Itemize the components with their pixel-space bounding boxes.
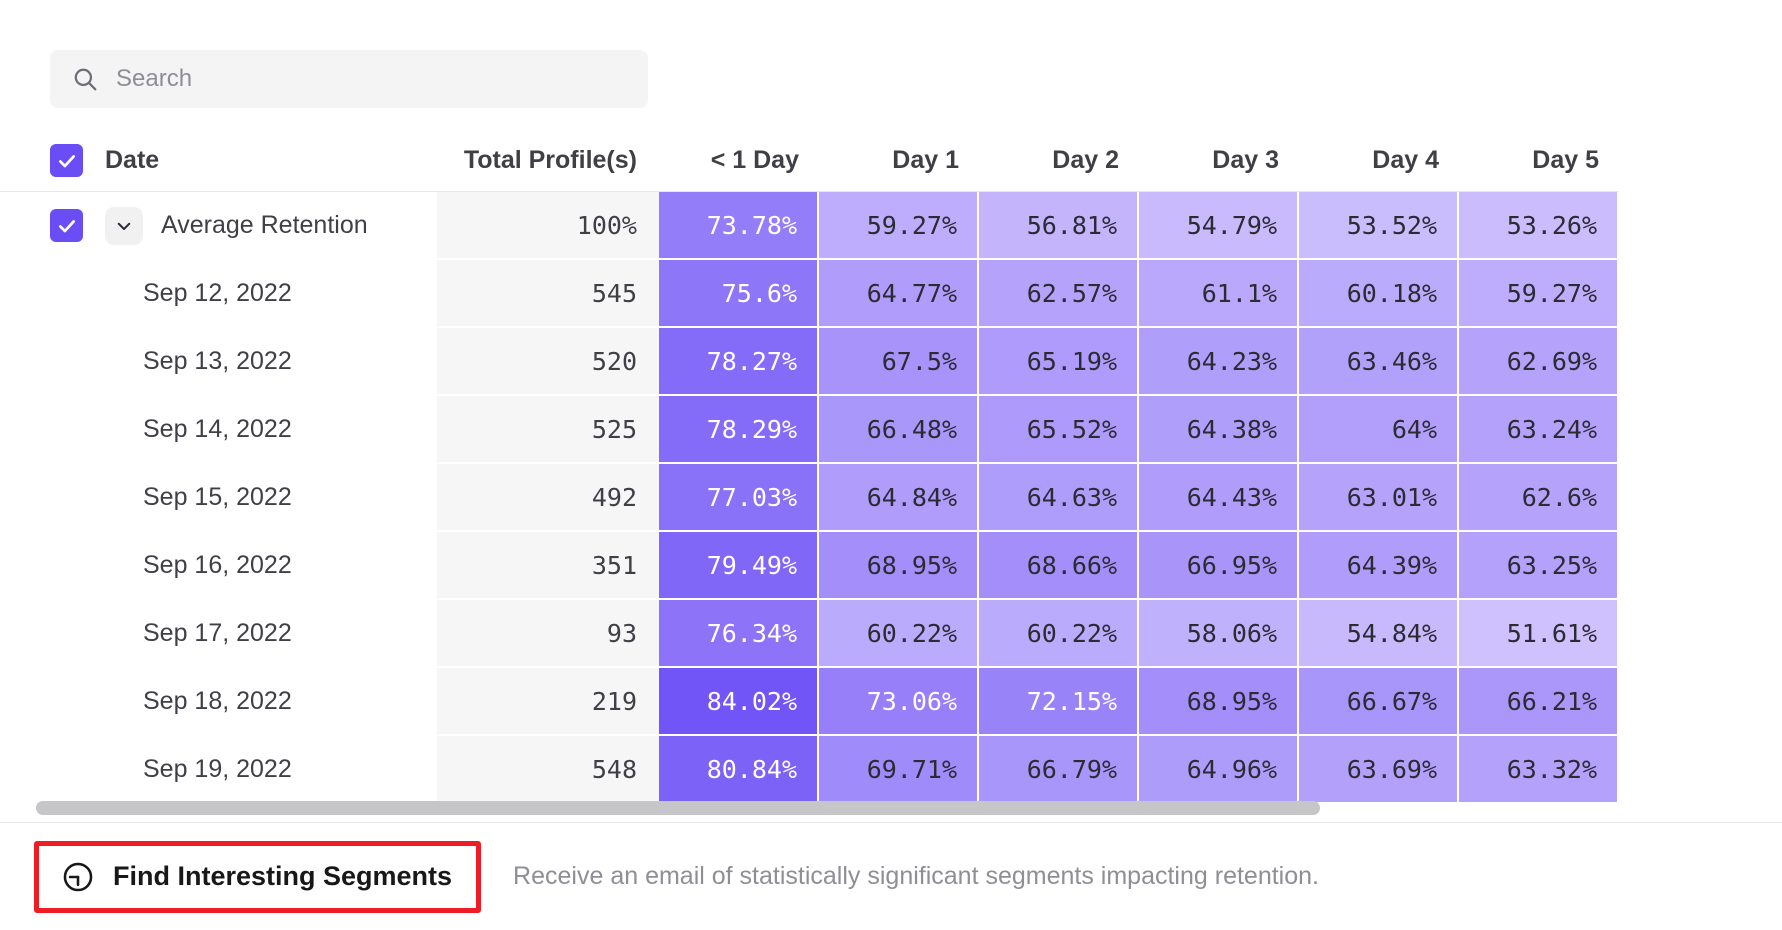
retention-value: 68.95% [867,551,957,580]
retention-value: 67.5% [882,347,957,376]
header-label-day: Day 3 [1212,146,1279,175]
retention-value: 84.02% [707,687,797,716]
table-row[interactable]: Sep 12, 202254575.6%64.77%62.57%61.1%60.… [0,260,1782,328]
row-label: Sep 18, 2022 [50,687,292,716]
retention-value: 78.29% [707,415,797,444]
retention-cell: 78.29% [659,396,819,464]
header-cell-day-5: Day 5 [1459,130,1619,192]
retention-cell: 59.27% [1459,260,1619,328]
row-label: Average Retention [161,211,368,240]
retention-cell: 84.02% [659,668,819,736]
retention-cell: 66.48% [819,396,979,464]
retention-value: 63.01% [1347,483,1437,512]
header-cell-day-1: Day 1 [819,130,979,192]
row-total-profiles: 520 [437,328,659,396]
row-total-value: 93 [607,619,637,648]
retention-value: 66.79% [1027,755,1117,784]
retention-cell: 64.63% [979,464,1139,532]
retention-cell: 60.22% [819,600,979,668]
row-total-profiles: 100% [437,192,659,260]
retention-value: 58.06% [1187,619,1277,648]
row-date-cell: Sep 16, 2022 [0,532,437,600]
retention-value: 77.03% [707,483,797,512]
header-cell-date: Date [0,130,437,192]
retention-cell: 62.69% [1459,328,1619,396]
retention-value: 73.06% [867,687,957,716]
header-cell-day-0: < 1 Day [659,130,819,192]
retention-value: 51.61% [1507,619,1597,648]
header-label-day: Day 1 [892,146,959,175]
retention-cell: 61.1% [1139,260,1299,328]
row-label: Sep 13, 2022 [50,347,292,376]
retention-cell: 68.95% [819,532,979,600]
retention-value: 63.24% [1507,415,1597,444]
retention-value: 53.52% [1347,211,1437,240]
retention-cell: 54.79% [1139,192,1299,260]
retention-cell: 59.27% [819,192,979,260]
row-total-profiles: 525 [437,396,659,464]
row-date-cell: Sep 13, 2022 [0,328,437,396]
row-total-profiles: 548 [437,736,659,804]
row-label: Sep 12, 2022 [50,279,292,308]
table-row[interactable]: Sep 14, 202252578.29%66.48%65.52%64.38%6… [0,396,1782,464]
row-date-cell: Sep 15, 2022 [0,464,437,532]
row-total-value: 525 [592,415,637,444]
row-label: Sep 16, 2022 [50,551,292,580]
retention-cell: 68.95% [1139,668,1299,736]
retention-cell: 60.18% [1299,260,1459,328]
header-cell-day-4: Day 4 [1299,130,1459,192]
row-total-value: 520 [592,347,637,376]
retention-cell: 62.57% [979,260,1139,328]
retention-cell: 77.03% [659,464,819,532]
retention-value: 64.43% [1187,483,1277,512]
retention-value: 78.27% [707,347,797,376]
retention-cell: 54.84% [1299,600,1459,668]
retention-cell: 64.77% [819,260,979,328]
row-checkbox[interactable] [50,209,83,242]
retention-value: 64.96% [1187,755,1277,784]
retention-cell: 53.52% [1299,192,1459,260]
row-label: Sep 17, 2022 [50,619,292,648]
retention-value: 59.27% [1507,279,1597,308]
search-box[interactable] [50,50,648,108]
retention-value: 62.6% [1522,483,1597,512]
retention-cell: 64.38% [1139,396,1299,464]
retention-value: 64.23% [1187,347,1277,376]
row-date-cell: Sep 12, 2022 [0,260,437,328]
retention-cell: 64% [1299,396,1459,464]
find-interesting-segments-button[interactable]: Find Interesting Segments [34,841,481,913]
header-cell-day-2: Day 2 [979,130,1139,192]
retention-cell: 78.27% [659,328,819,396]
footer-bar: Find Interesting Segments Receive an ema… [0,822,1782,930]
row-date-cell: Sep 18, 2022 [0,668,437,736]
retention-value: 53.26% [1507,211,1597,240]
header-cell-total-profiles: Total Profile(s) [437,130,659,192]
retention-cell: 68.66% [979,532,1139,600]
target-icon [61,860,95,894]
table-body: Average Retention100%73.78%59.27%56.81%5… [0,192,1782,804]
retention-value: 79.49% [707,551,797,580]
retention-value: 66.21% [1507,687,1597,716]
retention-cell: 63.01% [1299,464,1459,532]
row-total-value: 492 [592,483,637,512]
table-row[interactable]: Sep 18, 202221984.02%73.06%72.15%68.95%6… [0,668,1782,736]
row-label: Sep 19, 2022 [50,755,292,784]
retention-cell: 66.67% [1299,668,1459,736]
retention-value: 60.18% [1347,279,1437,308]
table-row[interactable]: Sep 16, 202235179.49%68.95%68.66%66.95%6… [0,532,1782,600]
retention-value: 65.19% [1027,347,1117,376]
retention-value: 66.95% [1187,551,1277,580]
retention-cell: 64.43% [1139,464,1299,532]
retention-cell: 80.84% [659,736,819,804]
retention-cell: 63.69% [1299,736,1459,804]
retention-value: 76.34% [707,619,797,648]
retention-value: 66.48% [867,415,957,444]
table-row[interactable]: Sep 15, 202249277.03%64.84%64.63%64.43%6… [0,464,1782,532]
retention-value: 75.6% [722,279,797,308]
retention-cell: 64.39% [1299,532,1459,600]
select-all-checkbox[interactable] [50,144,83,177]
retention-cell: 63.24% [1459,396,1619,464]
retention-value: 60.22% [867,619,957,648]
search-icon [72,66,98,92]
retention-value: 62.57% [1027,279,1117,308]
header-label-day: Day 4 [1372,146,1439,175]
retention-cell: 73.06% [819,668,979,736]
retention-cell: 75.6% [659,260,819,328]
header-label-date: Date [105,146,159,175]
row-total-profiles: 93 [437,600,659,668]
retention-cell: 63.32% [1459,736,1619,804]
retention-cell: 64.23% [1139,328,1299,396]
retention-cell: 66.95% [1139,532,1299,600]
retention-cell: 64.96% [1139,736,1299,804]
retention-cell: 65.52% [979,396,1139,464]
horizontal-scrollbar-thumb[interactable] [36,801,1320,815]
retention-cell: 79.49% [659,532,819,600]
table-header-row: DateTotal Profile(s)< 1 DayDay 1Day 2Day… [0,130,1782,192]
horizontal-scrollbar[interactable] [0,801,1782,817]
retention-value: 69.71% [867,755,957,784]
table-row[interactable]: Sep 17, 20229376.34%60.22%60.22%58.06%54… [0,600,1782,668]
table-row[interactable]: Average Retention100%73.78%59.27%56.81%5… [0,192,1782,260]
retention-cell: 60.22% [979,600,1139,668]
row-date-cell: Sep 17, 2022 [0,600,437,668]
retention-value: 60.22% [1027,619,1117,648]
retention-cell: 51.61% [1459,600,1619,668]
retention-cell: 66.21% [1459,668,1619,736]
row-total-profiles: 351 [437,532,659,600]
retention-value: 68.95% [1187,687,1277,716]
row-date-cell: Sep 14, 2022 [0,396,437,464]
retention-value: 54.84% [1347,619,1437,648]
row-label: Sep 15, 2022 [50,483,292,512]
retention-table: DateTotal Profile(s)< 1 DayDay 1Day 2Day… [0,130,1782,804]
retention-value: 73.78% [707,211,797,240]
header-cell-day-3: Day 3 [1139,130,1299,192]
retention-value: 56.81% [1027,211,1117,240]
row-total-value: 100% [577,211,637,240]
retention-value: 72.15% [1027,687,1117,716]
header-label-total-profiles: Total Profile(s) [464,146,637,175]
row-total-profiles: 545 [437,260,659,328]
retention-cell: 63.46% [1299,328,1459,396]
retention-value: 64.63% [1027,483,1117,512]
retention-value: 80.84% [707,755,797,784]
row-total-value: 351 [592,551,637,580]
footer-description: Receive an email of statistically signif… [513,862,1319,891]
retention-table-page: DateTotal Profile(s)< 1 DayDay 1Day 2Day… [0,0,1782,930]
retention-cell: 63.25% [1459,532,1619,600]
retention-value: 64.84% [867,483,957,512]
retention-cell: 73.78% [659,192,819,260]
retention-value: 62.69% [1507,347,1597,376]
retention-cell: 58.06% [1139,600,1299,668]
retention-cell: 67.5% [819,328,979,396]
retention-cell: 76.34% [659,600,819,668]
chevron-down-icon[interactable] [105,207,143,245]
row-date-cell: Sep 19, 2022 [0,736,437,804]
retention-cell: 53.26% [1459,192,1619,260]
retention-value: 65.52% [1027,415,1117,444]
retention-cell: 62.6% [1459,464,1619,532]
retention-value: 59.27% [867,211,957,240]
retention-value: 63.46% [1347,347,1437,376]
retention-value: 64.38% [1187,415,1277,444]
table-row[interactable]: Sep 19, 202254880.84%69.71%66.79%64.96%6… [0,736,1782,804]
row-total-profiles: 492 [437,464,659,532]
retention-value: 64.39% [1347,551,1437,580]
table-row[interactable]: Sep 13, 202252078.27%67.5%65.19%64.23%63… [0,328,1782,396]
retention-value: 66.67% [1347,687,1437,716]
row-total-value: 219 [592,687,637,716]
row-label: Sep 14, 2022 [50,415,292,444]
row-date-cell: Average Retention [0,192,437,260]
retention-cell: 72.15% [979,668,1139,736]
retention-value: 54.79% [1187,211,1277,240]
retention-value: 63.32% [1507,755,1597,784]
retention-value: 68.66% [1027,551,1117,580]
header-label-day: < 1 Day [711,146,799,175]
row-total-value: 548 [592,755,637,784]
retention-value: 63.25% [1507,551,1597,580]
header-label-day: Day 2 [1052,146,1119,175]
search-input[interactable] [116,65,626,93]
retention-cell: 69.71% [819,736,979,804]
header-label-day: Day 5 [1532,146,1599,175]
retention-value: 61.1% [1202,279,1277,308]
retention-cell: 65.19% [979,328,1139,396]
retention-cell: 66.79% [979,736,1139,804]
retention-cell: 64.84% [819,464,979,532]
retention-cell: 56.81% [979,192,1139,260]
retention-value: 63.69% [1347,755,1437,784]
row-total-value: 545 [592,279,637,308]
row-total-profiles: 219 [437,668,659,736]
retention-value: 64% [1392,415,1437,444]
retention-value: 64.77% [867,279,957,308]
find-interesting-segments-label: Find Interesting Segments [113,861,452,892]
